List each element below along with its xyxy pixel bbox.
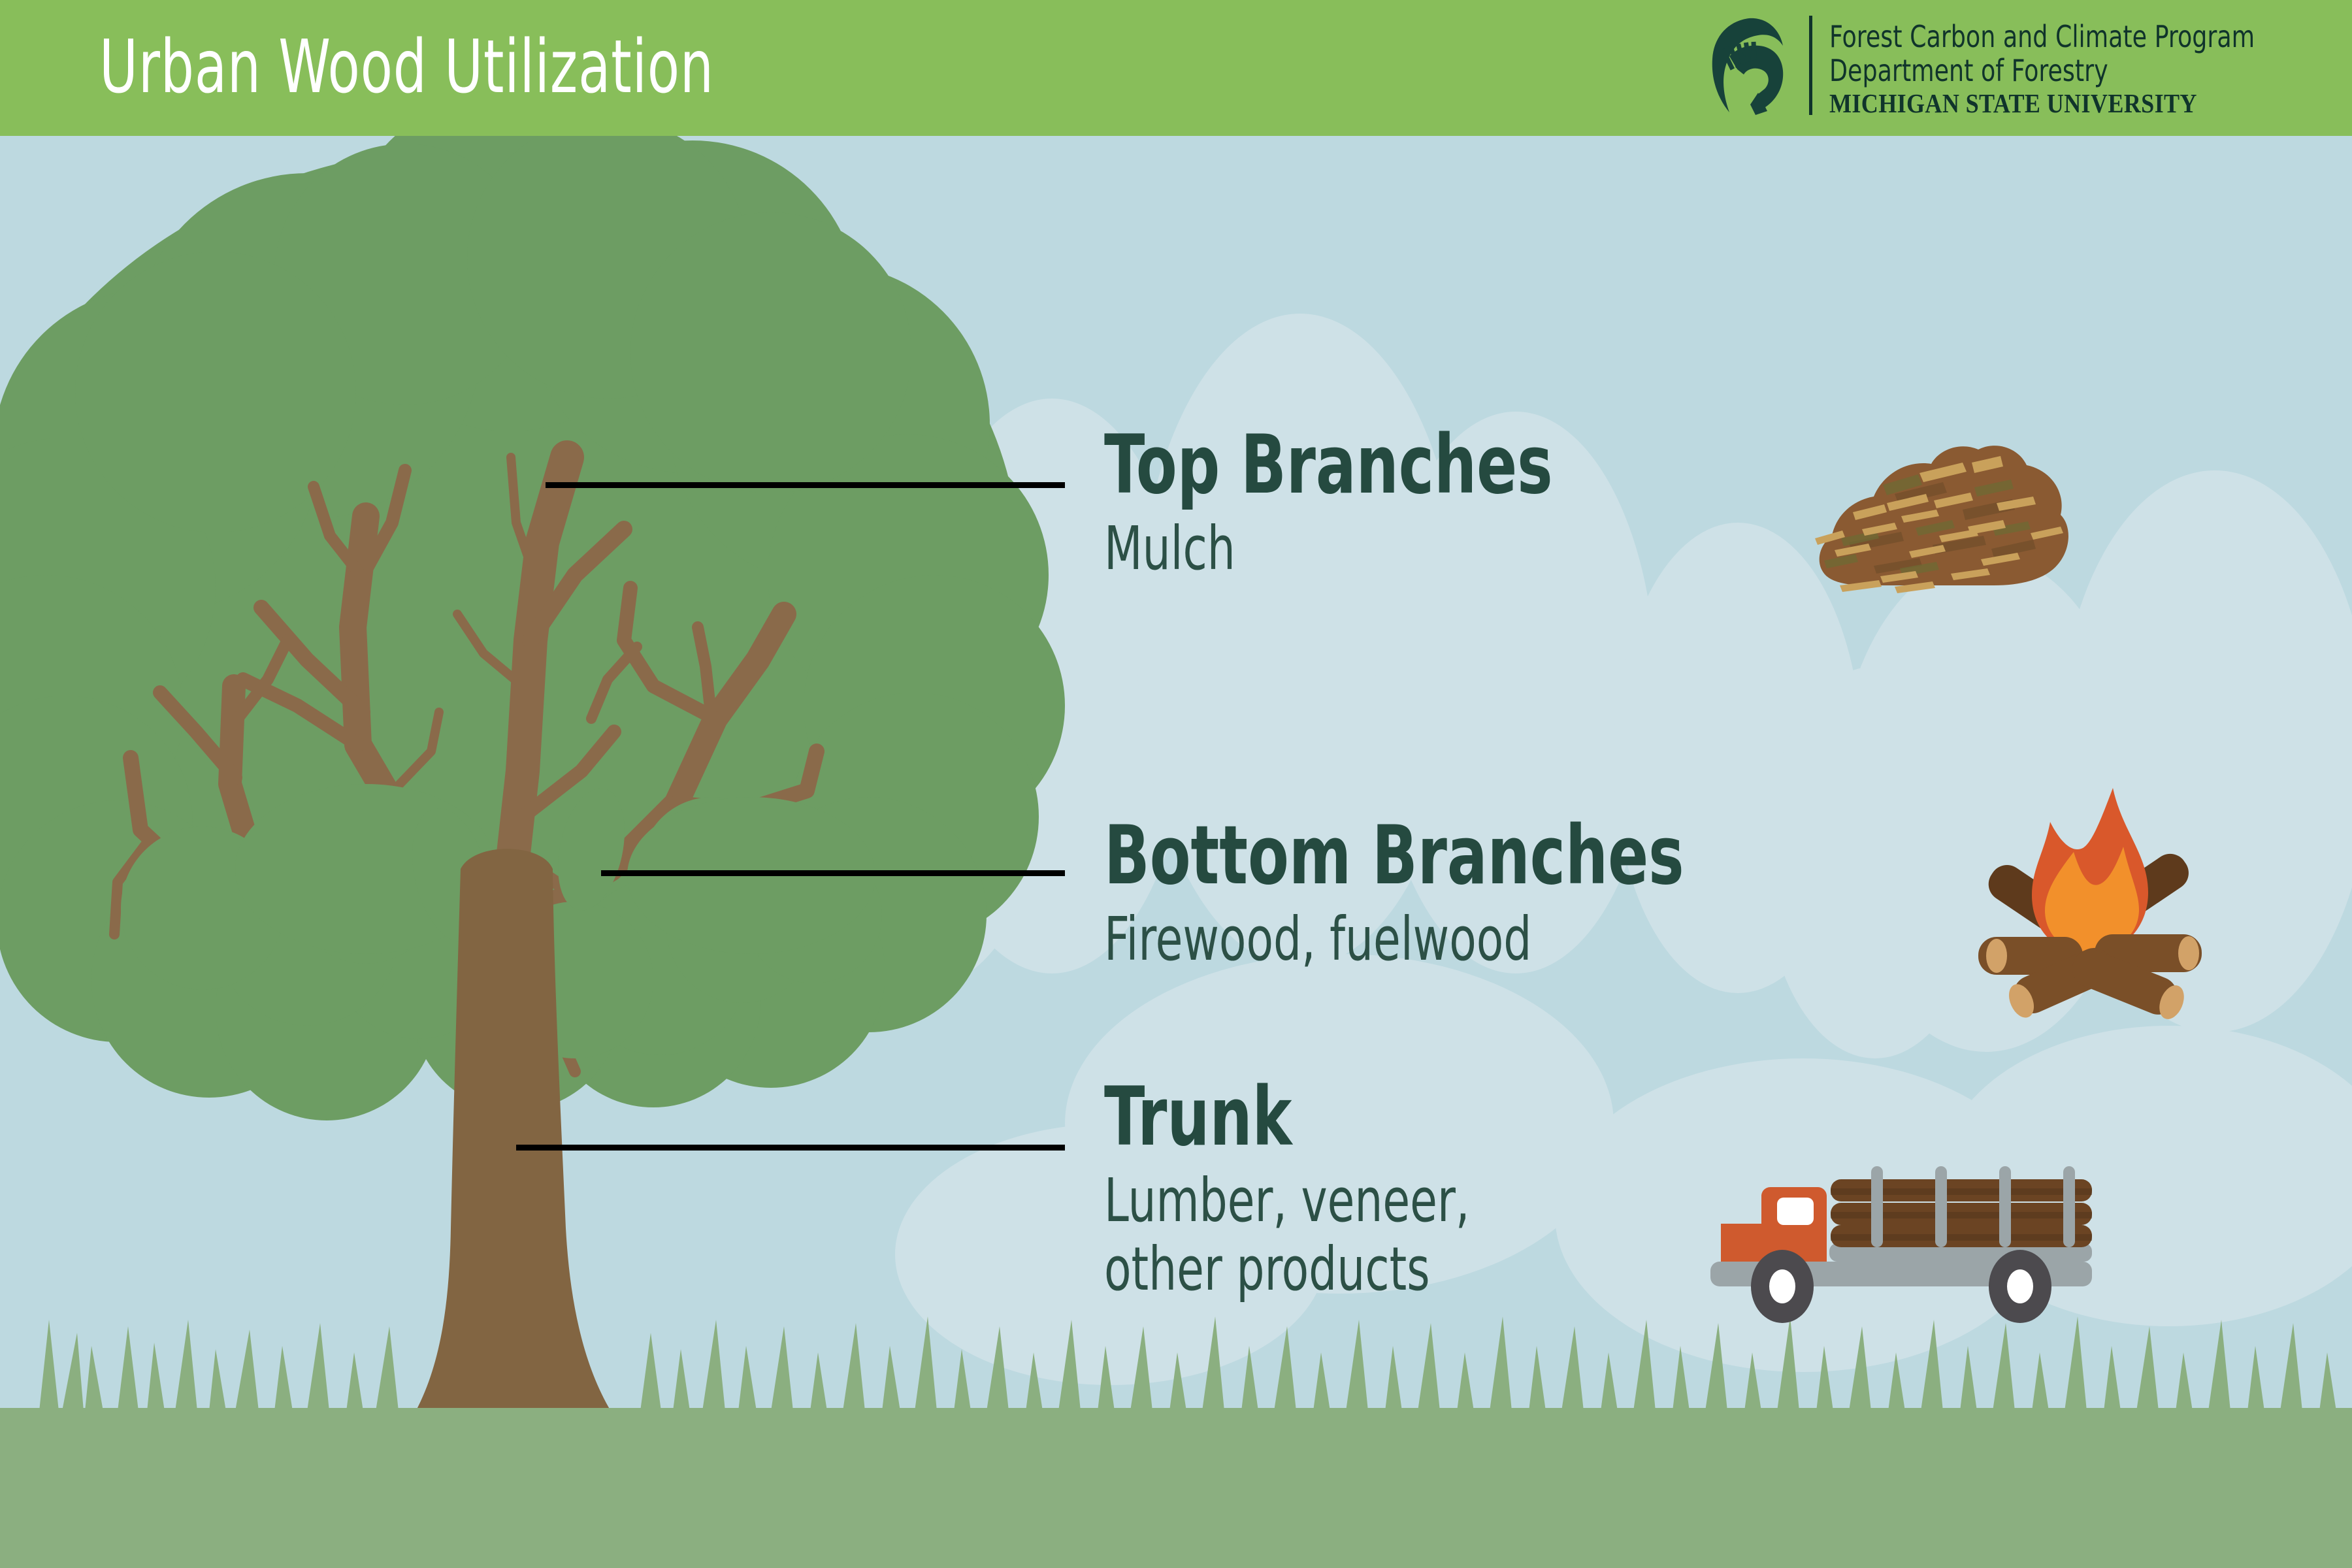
leader-line-bottom-branches	[601, 870, 1065, 876]
page-title: Urban Wood Utilization	[99, 25, 714, 110]
logging-truck-icon	[1692, 1147, 2123, 1330]
leader-line-trunk	[516, 1145, 1065, 1151]
callout-subtitle: Mulch	[1104, 515, 1553, 582]
logo-divider	[1809, 16, 1812, 115]
infographic-canvas: Urban Wood Utilization	[0, 0, 2352, 1568]
header-bar: Urban Wood Utilization	[0, 0, 2352, 136]
flame	[2032, 788, 2148, 954]
callout-bottom-branches: Bottom Branches Firewood, fuelwood	[1104, 815, 1811, 973]
callout-trunk: Trunk Lumber, veneer, other products	[1104, 1077, 1550, 1303]
callout-top-branches: Top Branches Mulch	[1104, 425, 1651, 582]
truck-cab	[1721, 1187, 1827, 1262]
callout-subtitle: Firewood, fuelwood	[1104, 906, 1684, 973]
leader-line-top-branches	[546, 482, 1065, 488]
callout-title: Top Branches	[1104, 425, 1553, 506]
truck-window	[1777, 1198, 1814, 1225]
callout-subtitle-line2: other products	[1104, 1235, 1469, 1303]
logo-university-line: MICHIGAN STATE UNIVERSITY	[1829, 88, 2255, 120]
callout-subtitle-line1: Lumber, veneer,	[1104, 1167, 1469, 1234]
campfire-icon	[1973, 771, 2202, 1026]
logo-department-line: Department of Forestry	[1829, 54, 2255, 88]
spartan-helmet-icon	[1710, 16, 1796, 115]
logo-program-line: Forest Carbon and Climate Program	[1829, 20, 2255, 54]
msu-logo: Forest Carbon and Climate Program Depart…	[1710, 16, 2313, 120]
mulch-pile-icon	[1803, 412, 2078, 601]
callout-title: Bottom Branches	[1104, 815, 1684, 896]
callout-title: Trunk	[1104, 1077, 1469, 1158]
truck-log-stack	[1831, 1179, 2092, 1247]
